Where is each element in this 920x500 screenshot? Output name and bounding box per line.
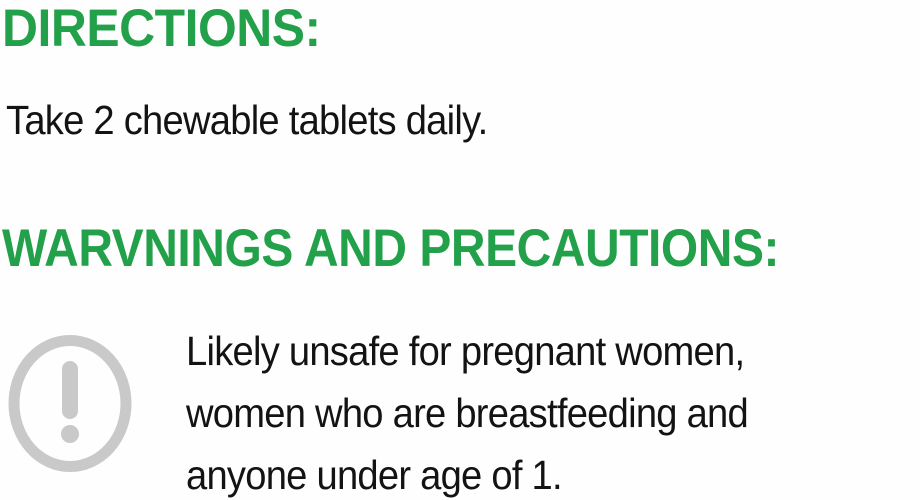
warning-line: women who are breastfeeding and bbox=[186, 382, 748, 444]
warnings-block: Likely unsafe for pregnant women, women … bbox=[0, 320, 920, 500]
directions-heading: DIRECTIONS: bbox=[2, 2, 321, 55]
warning-line: Likely unsafe for pregnant women, bbox=[186, 320, 748, 382]
warning-line: anyone under age of 1. bbox=[186, 444, 748, 500]
directions-body-text: Take 2 chewable tablets daily. bbox=[6, 100, 487, 141]
warnings-heading: WARVNINGS AND PRECAUTIONS: bbox=[2, 222, 779, 275]
exclamation-circle-icon bbox=[5, 331, 135, 476]
supplement-label-panel: DIRECTIONS: Take 2 chewable tablets dail… bbox=[0, 0, 920, 500]
warnings-text-lines: Likely unsafe for pregnant women, women … bbox=[186, 320, 790, 500]
